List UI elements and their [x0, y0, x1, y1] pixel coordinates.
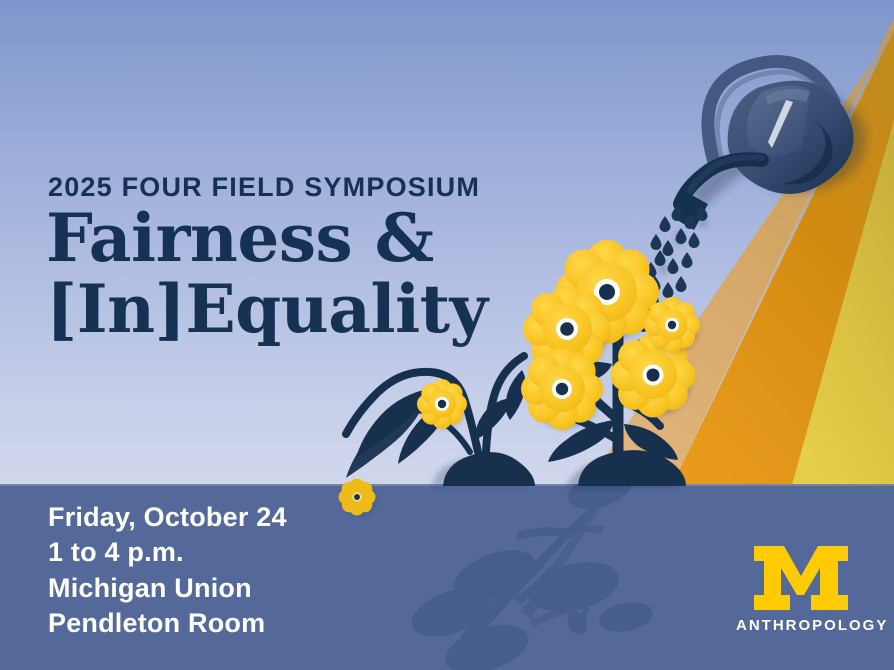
page-title: Fairness & [In]Equality [46, 206, 488, 341]
flower [417, 379, 467, 429]
flowering-plant-icon [521, 240, 700, 488]
logo-unit-name: ANTHROPOLOGY [736, 617, 866, 634]
michigan-anthropology-logo: ANTHROPOLOGY [736, 546, 866, 634]
block-m-icon [754, 546, 848, 610]
event-details: Friday, October 24 1 to 4 p.m. Michigan … [48, 500, 287, 641]
event-poster: 2025 FOUR FIELD SYMPOSIUM Fairness & [In… [0, 0, 894, 670]
wilting-plant-icon [339, 356, 536, 516]
flower [521, 348, 603, 430]
headline-line-1: Fairness & [46, 206, 488, 271]
event-venue: Michigan Union [48, 571, 287, 606]
event-date: Friday, October 24 [48, 500, 287, 535]
event-time: 1 to 4 p.m. [48, 535, 287, 570]
flower [644, 297, 700, 353]
event-room: Pendleton Room [48, 606, 287, 641]
fallen-flower-icon [339, 479, 376, 517]
watering-can-icon [672, 62, 866, 231]
headline-line-2: [In]Equality [46, 277, 488, 342]
